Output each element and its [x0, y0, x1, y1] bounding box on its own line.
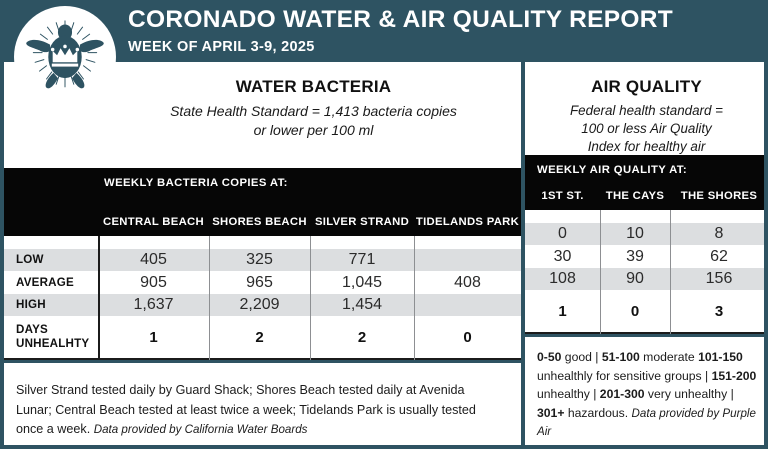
air-quality-legend: 0-50 good | 51-100 moderate 101-150 unhe…	[525, 334, 768, 449]
water-data-grid: LOW 405 325 771 AVERAGE 905 965 1,045 40…	[0, 236, 521, 360]
water-vline-2	[209, 236, 210, 360]
air-col-the-shores: THE SHORES	[670, 190, 768, 202]
water-average-central-beach: 905	[98, 274, 209, 292]
air-average-the-cays: 39	[600, 248, 670, 266]
air-standard: Federal health standard = 100 or less Ai…	[531, 102, 762, 155]
water-days-central-beach: 1	[98, 329, 209, 346]
table-row: 30 39 62	[525, 245, 768, 268]
water-row-label-average: AVERAGE	[0, 276, 98, 290]
water-high-shores-beach: 2,209	[209, 296, 310, 314]
air-column-labels: 1ST ST. THE CAYS THE SHORES	[525, 176, 768, 210]
table-row: LOW 405 325 771	[0, 249, 521, 271]
air-days-the-shores: 3	[670, 303, 768, 320]
air-low-the-cays: 10	[600, 225, 670, 243]
air-data-grid: 0 10 8 30 39 62 108 90 156 1 0 3	[525, 210, 768, 334]
city-logo	[14, 6, 116, 108]
aqi-desc-101-150: unhealthly for sensitive groups |	[537, 369, 712, 383]
aqi-desc-301-plus: hazardous.	[564, 406, 628, 420]
water-footnote: Silver Strand tested daily by Guard Shac…	[0, 360, 521, 449]
water-average-tidelands-park: 408	[414, 274, 521, 292]
table-row: 0 10 8	[525, 223, 768, 245]
report-card: CORONADO WATER & AIR QUALITY REPORT WEEK…	[0, 0, 768, 449]
aqi-range-301-plus: 301+	[537, 406, 564, 420]
air-vline-2	[670, 210, 671, 334]
water-col-tidelands-park: TIDELANDS PARK	[414, 216, 521, 228]
table-row: DAYS UNHEALHTY 1 2 2 0	[0, 316, 521, 358]
air-high-the-cays: 90	[600, 270, 670, 288]
aqi-range-51-100: 51-100	[602, 350, 640, 364]
water-days-shores-beach: 2	[209, 329, 310, 346]
water-row-label-days-line1: DAYS	[16, 323, 48, 336]
aqi-desc-0-50: good |	[561, 350, 601, 364]
frame-right-edge	[764, 62, 768, 449]
air-average-1st-st: 30	[525, 248, 600, 266]
air-column-header: WEEKLY AIR QUALITY AT: 1ST ST. THE CAYS …	[525, 155, 768, 210]
table-row: 108 90 156	[525, 268, 768, 290]
water-standard-line1: State Health Standard = 1,413 bacteria c…	[110, 102, 517, 121]
logo-circle	[14, 6, 116, 108]
table-row: AVERAGE 905 965 1,045 408	[0, 271, 521, 294]
aqi-desc-51-100: moderate	[640, 350, 695, 364]
air-standard-line3: Index for healthy air	[531, 138, 762, 156]
air-vline-1	[600, 210, 601, 334]
water-vline-3	[310, 236, 311, 360]
header-text-block: CORONADO WATER & AIR QUALITY REPORT WEEK…	[128, 8, 673, 54]
water-col-silver-strand: SILVER STRAND	[310, 216, 414, 228]
water-col-shores-beach: SHORES BEACH	[209, 216, 310, 228]
air-standard-line1: Federal health standard =	[531, 102, 762, 120]
air-high-the-shores: 156	[670, 270, 768, 288]
air-high-1st-st: 108	[525, 270, 600, 288]
air-title-block: AIR QUALITY Federal health standard = 10…	[525, 62, 768, 155]
air-col-1st-st: 1ST ST.	[525, 190, 600, 202]
water-column-header: WEEKLY BACTERIA COPIES AT: CENTRAL BEACH…	[0, 168, 521, 236]
report-body: WATER BACTERIA State Health Standard = 1…	[0, 62, 768, 449]
aqi-desc-201-300: very unhealthy |	[645, 387, 734, 401]
air-days-1st-st: 1	[525, 303, 600, 320]
water-high-central-beach: 1,637	[98, 296, 209, 314]
page-title: CORONADO WATER & AIR QUALITY REPORT	[128, 8, 673, 33]
aqi-desc-151-200: unhealthy |	[537, 387, 600, 401]
water-row-label-days-unhealthy: DAYS UNHEALHTY	[0, 323, 98, 350]
water-bacteria-panel: WATER BACTERIA State Health Standard = 1…	[0, 62, 521, 449]
water-days-silver-strand: 2	[310, 329, 414, 346]
water-low-shores-beach: 325	[209, 251, 310, 269]
water-standard: State Health Standard = 1,413 bacteria c…	[110, 102, 517, 139]
air-low-the-shores: 8	[670, 225, 768, 243]
aqi-range-0-50: 0-50	[537, 350, 561, 364]
water-vline-1	[98, 236, 100, 360]
water-grid-top-pad	[0, 236, 521, 249]
aqi-range-201-300: 201-300	[600, 387, 645, 401]
water-col-central-beach: CENTRAL BEACH	[98, 216, 209, 228]
water-row-label-high: HIGH	[0, 298, 98, 312]
table-row: 1 0 3	[525, 290, 768, 332]
air-low-1st-st: 0	[525, 225, 600, 243]
air-group-header: WEEKLY AIR QUALITY AT:	[525, 155, 768, 176]
turtle-crown-icon	[21, 13, 109, 101]
water-standard-line2: or lower per 100 ml	[110, 121, 517, 140]
water-low-silver-strand: 771	[310, 251, 414, 269]
frame-left-edge	[0, 62, 4, 449]
air-col-the-cays: THE CAYS	[600, 190, 670, 202]
water-low-central-beach: 405	[98, 251, 209, 269]
water-row-label-low: LOW	[0, 253, 98, 267]
air-average-the-shores: 62	[670, 248, 768, 266]
water-grid-bottom-rule	[0, 358, 521, 360]
frame-bottom-edge	[0, 445, 768, 449]
air-quality-panel: AIR QUALITY Federal health standard = 10…	[525, 62, 768, 449]
water-average-shores-beach: 965	[209, 274, 310, 292]
air-grid-top-pad	[525, 210, 768, 223]
water-footnote-source: Data provided by California Water Boards	[94, 423, 308, 436]
report-week: WEEK OF APRIL 3-9, 2025	[128, 40, 673, 55]
report-header: CORONADO WATER & AIR QUALITY REPORT WEEK…	[0, 0, 768, 62]
water-average-silver-strand: 1,045	[310, 274, 414, 292]
water-high-silver-strand: 1,454	[310, 296, 414, 314]
air-standard-line2: 100 or less Air Quality	[531, 120, 762, 138]
aqi-range-101-150: 101-150	[698, 350, 743, 364]
water-vline-4	[414, 236, 415, 360]
water-group-header: WEEKLY BACTERIA COPIES AT:	[0, 168, 521, 189]
water-column-labels: CENTRAL BEACH SHORES BEACH SILVER STRAND…	[0, 189, 521, 236]
water-row-label-days-line2: UNHEALHTY	[16, 337, 89, 350]
aqi-range-151-200: 151-200	[712, 369, 757, 383]
table-row: HIGH 1,637 2,209 1,454	[0, 294, 521, 316]
air-grid-bottom-rule	[525, 332, 768, 334]
air-days-the-cays: 0	[600, 303, 670, 320]
water-section-title: WATER BACTERIA	[110, 77, 517, 97]
air-section-title: AIR QUALITY	[531, 77, 762, 97]
water-days-tidelands-park: 0	[414, 329, 521, 346]
